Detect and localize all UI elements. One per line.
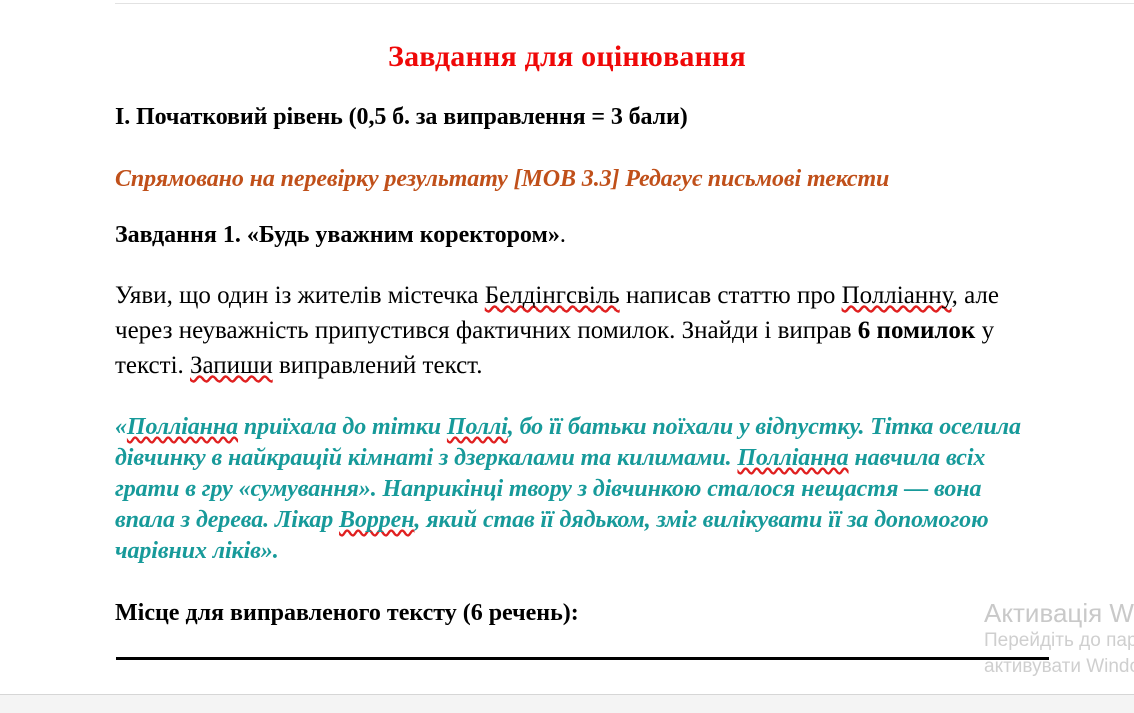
watermark-line-1: Перейдіть до параметрів, щоб [984, 628, 1134, 654]
task-label: Завдання 1. [115, 222, 241, 248]
quote-open-mark: « [115, 414, 127, 440]
misspelled-word-pollianna: Полліанну [842, 282, 952, 309]
quoted-text-with-errors: «Полліанна приїхала до тітки Поллі, бо ї… [115, 412, 1045, 567]
task-punctuation: . [560, 222, 566, 248]
document-page: Завдання для оцінювання I. Початковий рі… [0, 0, 1134, 713]
quote-name-pollianna-1: Полліанна [127, 414, 238, 440]
instructions-part-5: виправлений текст. [273, 352, 483, 379]
page-top-divider [115, 3, 1134, 4]
level-heading: I. Початковий рівень (0,5 б. за виправле… [115, 104, 1050, 131]
learning-objective: Спрямовано на перевірку результату [МОВ … [115, 166, 1050, 193]
task-instructions: Уяви, що один із жителів містечка Белдін… [115, 278, 1040, 383]
instructions-part-1: Уяви, що один із жителів містечка [115, 282, 485, 309]
status-bar [0, 694, 1134, 713]
task-name: «Будь уважним коректором» [247, 222, 560, 248]
quote-name-pollianna-2: Полліанна [737, 445, 848, 471]
quote-name-polly: Поллі [447, 414, 508, 440]
misspelled-word-beldingsville: Белдінгсвіль [485, 282, 620, 309]
misspelled-word-zapyshy: Запиши [190, 352, 273, 379]
quote-name-warren: Воррен [339, 507, 414, 533]
instructions-bold-count: 6 помилок [858, 317, 976, 344]
instructions-part-2: написав статтю про [620, 282, 842, 309]
page-title: Завдання для оцінювання [0, 40, 1134, 74]
answer-area-heading: Місце для виправленого тексту (6 речень)… [115, 600, 1050, 627]
answer-writing-line [116, 657, 1049, 660]
task-heading: Завдання 1. «Будь уважним коректором». [115, 222, 1050, 249]
quote-segment-1: приїхала до тітки [238, 414, 447, 440]
